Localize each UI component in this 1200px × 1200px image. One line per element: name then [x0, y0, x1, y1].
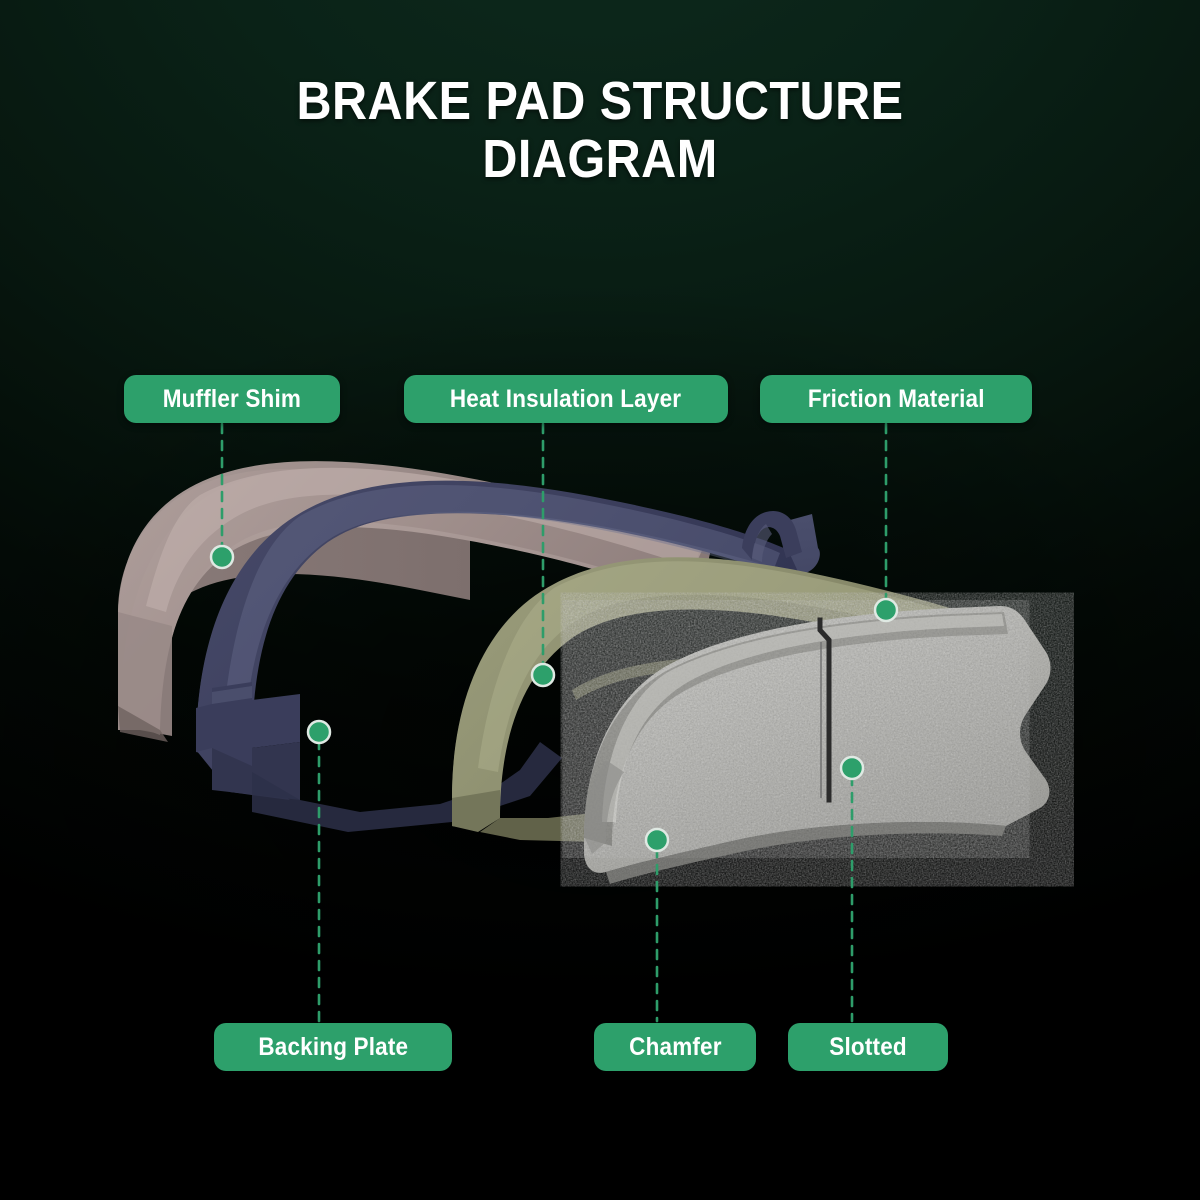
- callout-label-muffler-shim[interactable]: Muffler Shim: [124, 375, 340, 423]
- callout-label-backing-plate[interactable]: Backing Plate: [214, 1023, 452, 1071]
- callout-dot-muffler-shim: [211, 546, 233, 568]
- title-line-1: BRAKE PAD STRUCTURE: [296, 71, 903, 131]
- callout-dot-chamfer: [646, 829, 668, 851]
- callout-label-chamfer[interactable]: Chamfer: [594, 1023, 756, 1071]
- callout-label-text: Muffler Shim: [163, 385, 301, 414]
- callout-label-text: Chamfer: [629, 1033, 722, 1062]
- callout-label-text: Slotted: [829, 1033, 907, 1062]
- callout-label-text: Backing Plate: [258, 1033, 408, 1062]
- callout-dot-slotted: [841, 757, 863, 779]
- callout-dot-heat-insulation-layer: [532, 664, 554, 686]
- diagram-canvas: BRAKE PAD STRUCTURE DIAGRAM: [0, 0, 1200, 1200]
- callout-label-slotted[interactable]: Slotted: [788, 1023, 948, 1071]
- callout-label-text: Friction Material: [808, 385, 985, 414]
- callout-dot-friction-material: [875, 599, 897, 621]
- page-title: BRAKE PAD STRUCTURE DIAGRAM: [60, 72, 1140, 189]
- callout-label-text: Heat Insulation Layer: [450, 385, 681, 414]
- title-line-2: DIAGRAM: [60, 130, 1140, 188]
- callout-label-friction-material[interactable]: Friction Material: [760, 375, 1032, 423]
- callout-label-heat-insulation-layer[interactable]: Heat Insulation Layer: [404, 375, 728, 423]
- callout-dot-backing-plate: [308, 721, 330, 743]
